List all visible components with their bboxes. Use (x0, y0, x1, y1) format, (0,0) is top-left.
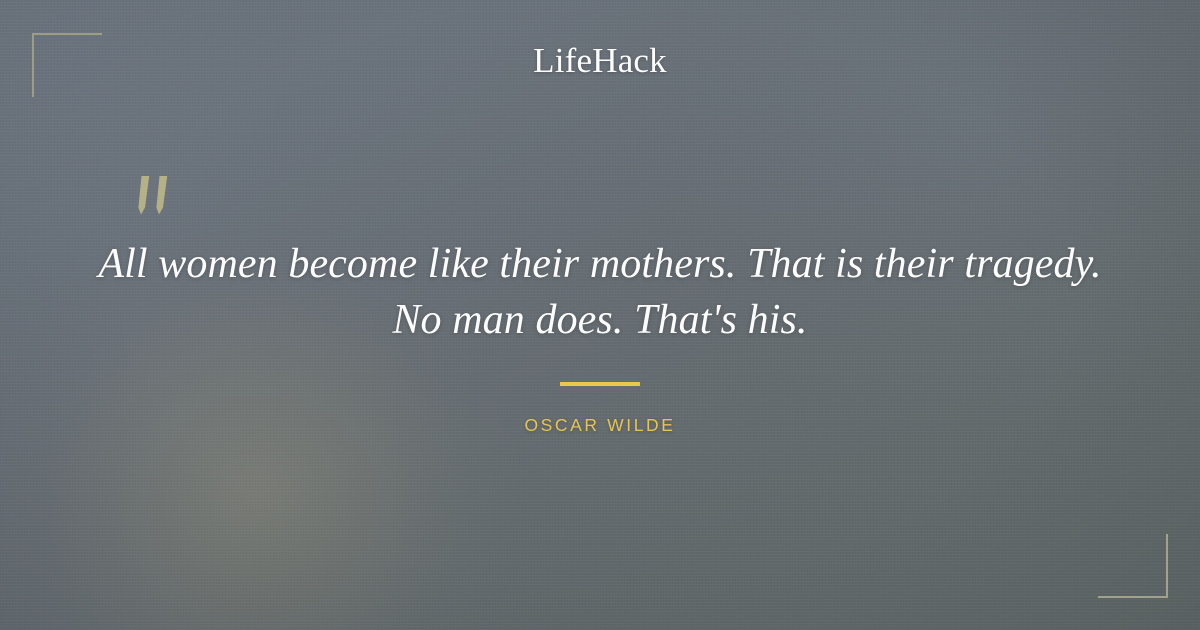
quote-card: LifeHack All women become like their mot… (0, 0, 1200, 630)
brand-logo-text: LifeHack (533, 41, 667, 80)
quotation-mark-icon (131, 174, 177, 218)
gold-divider (560, 382, 640, 386)
divider-container (0, 382, 1200, 386)
attribution: OSCAR WILDE (0, 413, 1200, 437)
author-name: OSCAR WILDE (524, 415, 675, 435)
corner-bracket-bottom-right-icon (1098, 534, 1168, 598)
brand-logo: LifeHack (0, 40, 1200, 82)
quote-text: All women become like their mothers. Tha… (86, 236, 1114, 348)
quotation-mark-svg (131, 174, 177, 218)
quote-body: All women become like their mothers. Tha… (86, 236, 1114, 348)
